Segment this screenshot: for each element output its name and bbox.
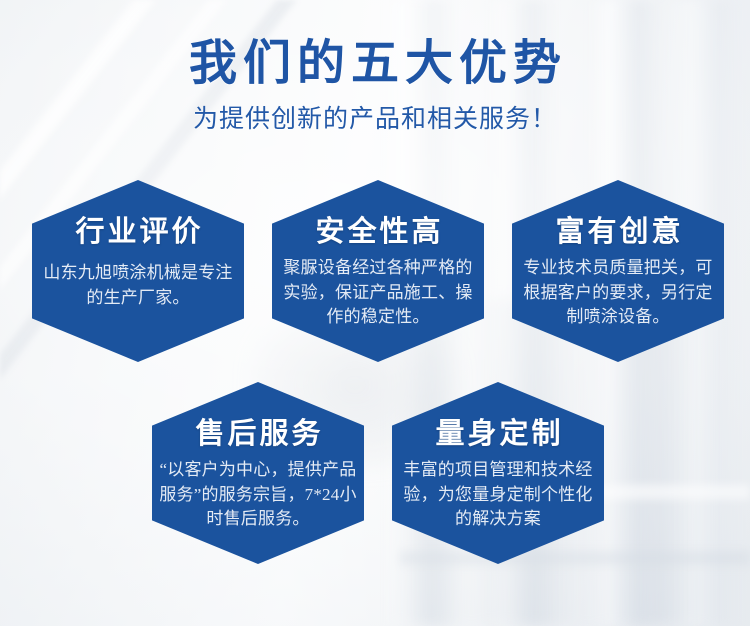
advantage-title-4: 售后服务	[192, 420, 323, 449]
advantage-title-5: 量身定制	[432, 420, 563, 449]
advantage-hexagon-2[interactable]: 安全性高 聚脲设备经过各种严格的实验，保证产品施工、操作的稳定性。	[272, 180, 484, 362]
page-title: 我们的五大优势	[0, 38, 750, 91]
advantage-body-3: 专业技术员质量把关，可根据客户的要求，另行定制喷涂设备。	[518, 256, 718, 330]
advantage-title-3: 富有创意	[552, 218, 683, 247]
advantage-body-4: “以客户为中心，提供产品服务”的服务宗旨，7*24小时售后服务。	[157, 458, 359, 532]
heading-block: 我们的五大优势 为提供创新的产品和相关服务！	[0, 38, 750, 135]
advantage-title-2: 安全性高	[312, 218, 443, 247]
advantage-hexagon-3[interactable]: 富有创意 专业技术员质量把关，可根据客户的要求，另行定制喷涂设备。	[512, 180, 724, 362]
advantage-hexagon-1[interactable]: 行业评价 山东九旭喷涂机械是专注的生产厂家。	[32, 180, 244, 362]
advantage-body-1: 山东九旭喷涂机械是专注的生产厂家。	[40, 261, 236, 310]
advantage-hexagon-5[interactable]: 量身定制 丰富的项目管理和技术经验，为您量身定制个性化的解决方案	[392, 382, 604, 564]
advantage-body-2: 聚脲设备经过各种严格的实验，保证产品施工、操作的稳定性。	[278, 256, 478, 330]
advantages-banner: 我们的五大优势 为提供创新的产品和相关服务！ 行业评价 山东九旭喷涂机械是专注的…	[0, 0, 750, 626]
advantage-body-5: 丰富的项目管理和技术经验，为您量身定制个性化的解决方案	[398, 458, 598, 532]
page-subtitle: 为提供创新的产品和相关服务！	[0, 105, 750, 135]
advantage-hexagon-4[interactable]: 售后服务 “以客户为中心，提供产品服务”的服务宗旨，7*24小时售后服务。	[152, 382, 364, 564]
advantage-title-1: 行业评价	[72, 218, 203, 247]
